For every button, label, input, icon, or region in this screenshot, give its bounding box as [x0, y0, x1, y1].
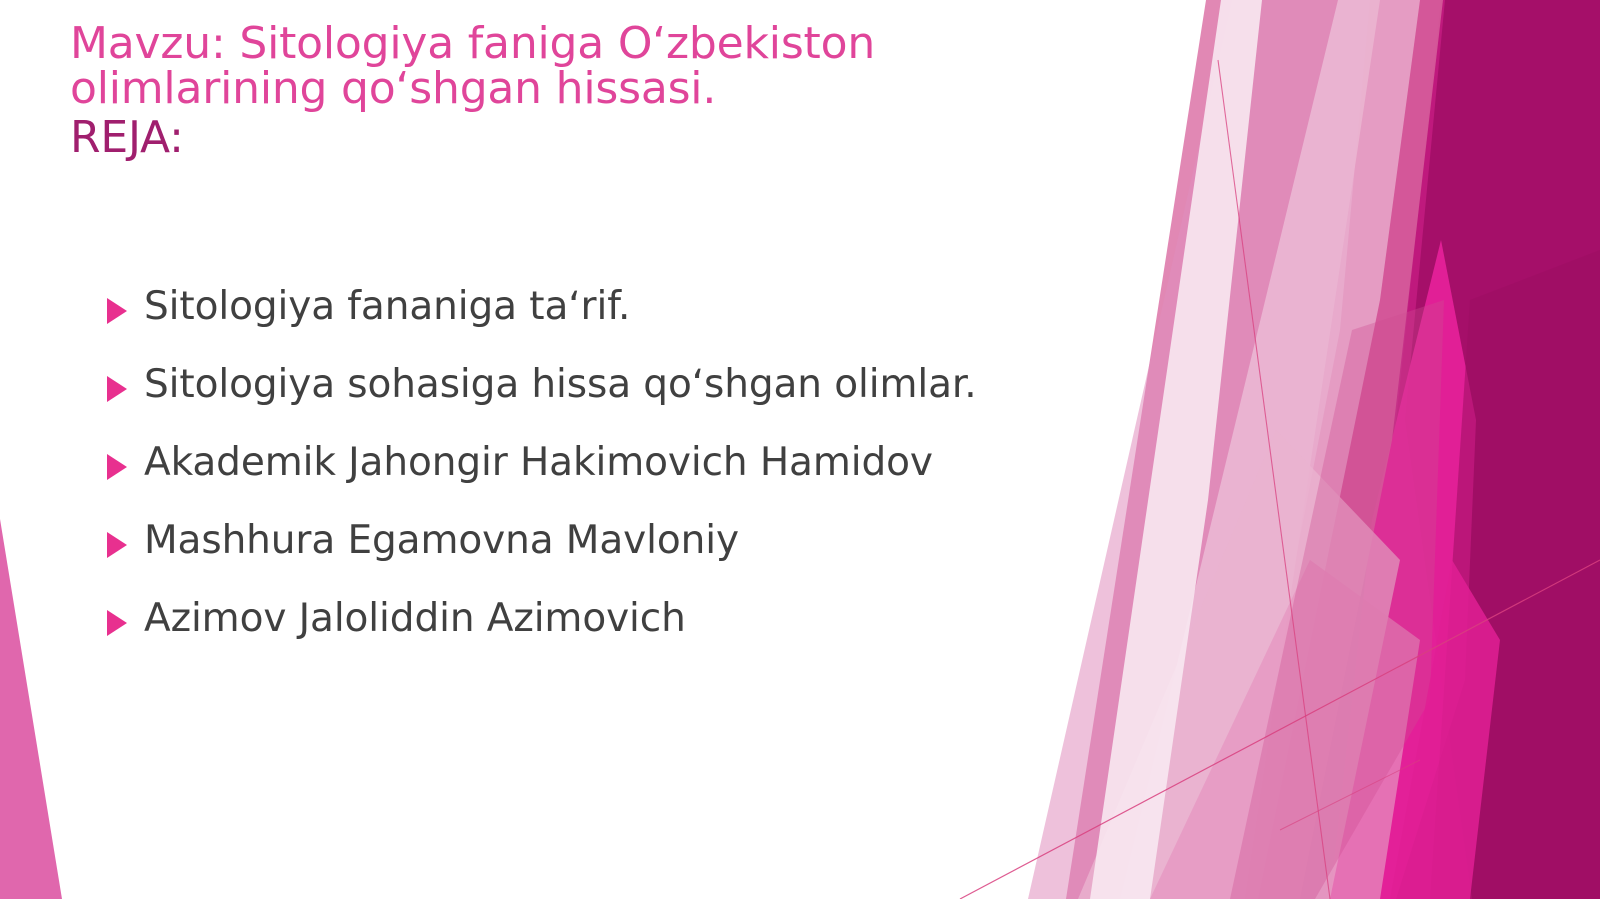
- deco-deep-magenta-slab: [1330, 0, 1600, 899]
- title-line-2: olimlarining qo‘shgan hissasi.: [70, 67, 1070, 112]
- deco-bright-accent: [1390, 560, 1500, 899]
- deco-bright-pink-ridge: [1330, 240, 1476, 899]
- triangle-bullet-icon: [104, 607, 130, 637]
- title-line-reja: REJA:: [70, 112, 1070, 164]
- list-item: Mashhura Egamovna Mavloniy: [104, 520, 1214, 598]
- triangle-bullet-icon: [104, 529, 130, 559]
- deco-hairline-short: [1280, 760, 1420, 830]
- deco-soft-tone: [1230, 300, 1444, 899]
- list-item: Akademik Jahongir Hakimovich Hamidov: [104, 442, 1214, 520]
- triangle-bullet-icon: [104, 373, 130, 403]
- slide-content: Mavzu: Sitologiya faniga O‘zbekiston oli…: [0, 0, 1220, 899]
- presentation-slide: Mavzu: Sitologiya faniga O‘zbekiston oli…: [0, 0, 1600, 899]
- bullet-list: Sitologiya fananiga ta‘rif. Sitologiya s…: [104, 286, 1214, 676]
- list-item: Azimov Jaloliddin Azimovich: [104, 598, 1214, 676]
- deco-magenta-slab: [1245, 0, 1472, 899]
- bullet-item-label: Mashhura Egamovna Mavloniy: [144, 520, 739, 562]
- deco-hairline-vertical: [1218, 60, 1330, 899]
- list-item: Sitologiya fananiga ta‘rif.: [104, 286, 1214, 364]
- list-item: Sitologiya sohasiga hissa qo‘shgan oliml…: [104, 364, 1214, 442]
- bullet-item-label: Sitologiya sohasiga hissa qo‘shgan oliml…: [144, 364, 977, 406]
- bullet-item-label: Sitologiya fananiga ta‘rif.: [144, 286, 630, 328]
- deco-inner-shade: [1430, 250, 1600, 899]
- title-line-1: Mavzu: Sitologiya faniga O‘zbekiston: [70, 22, 1070, 67]
- triangle-bullet-icon: [104, 295, 130, 325]
- slide-title-block: Mavzu: Sitologiya faniga O‘zbekiston oli…: [70, 22, 1070, 164]
- bullet-item-label: Akademik Jahongir Hakimovich Hamidov: [144, 442, 933, 484]
- triangle-bullet-icon: [104, 451, 130, 481]
- bullet-item-label: Azimov Jaloliddin Azimovich: [144, 598, 686, 640]
